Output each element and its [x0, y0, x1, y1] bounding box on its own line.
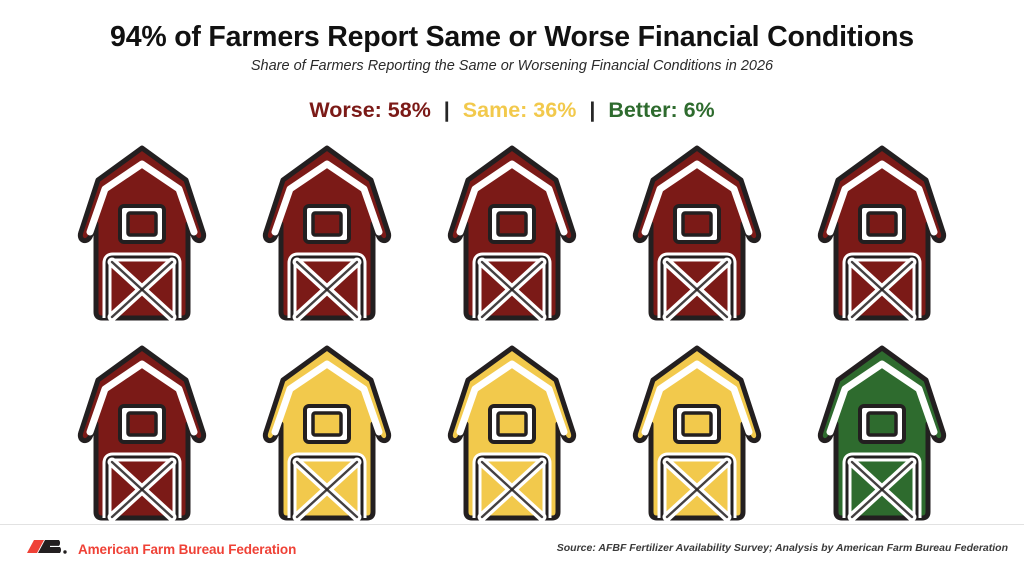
source-note: Source: AFBF Fertilizer Availability Sur… — [557, 542, 1008, 554]
barn-icon — [615, 140, 779, 330]
barn-pictogram-grid — [0, 140, 1024, 540]
header: 94% of Farmers Report Same or Worse Fina… — [0, 22, 1024, 75]
barn-icon — [245, 340, 409, 530]
barn-icon — [615, 340, 779, 530]
barn-row — [0, 340, 1024, 540]
barn-icon — [800, 140, 964, 330]
infographic-canvas: 94% of Farmers Report Same or Worse Fina… — [0, 0, 1024, 576]
legend-separator: | — [582, 98, 602, 123]
brand-name: American Farm Bureau Federation — [78, 542, 296, 557]
page-title: 94% of Farmers Report Same or Worse Fina… — [0, 22, 1024, 54]
legend-item-worse: Worse: 58% — [309, 98, 430, 123]
barn-icon — [430, 140, 594, 330]
barn-icon — [245, 140, 409, 330]
legend: Worse: 58% | Same: 36% | Better: 6% — [0, 98, 1024, 123]
afbf-logo-icon — [26, 536, 70, 563]
legend-separator: | — [437, 98, 457, 123]
barn-icon — [800, 340, 964, 530]
brand-logo: American Farm Bureau Federation — [26, 536, 296, 563]
legend-item-better: Better: 6% — [608, 98, 714, 123]
legend-item-same: Same: 36% — [463, 98, 577, 123]
barn-row — [0, 140, 1024, 340]
page-subtitle: Share of Farmers Reporting the Same or W… — [0, 58, 1024, 75]
barn-icon — [60, 340, 224, 530]
barn-icon — [60, 140, 224, 330]
footer: American Farm Bureau Federation Source: … — [0, 524, 1024, 576]
footer-divider — [0, 524, 1024, 525]
barn-icon — [430, 340, 594, 530]
